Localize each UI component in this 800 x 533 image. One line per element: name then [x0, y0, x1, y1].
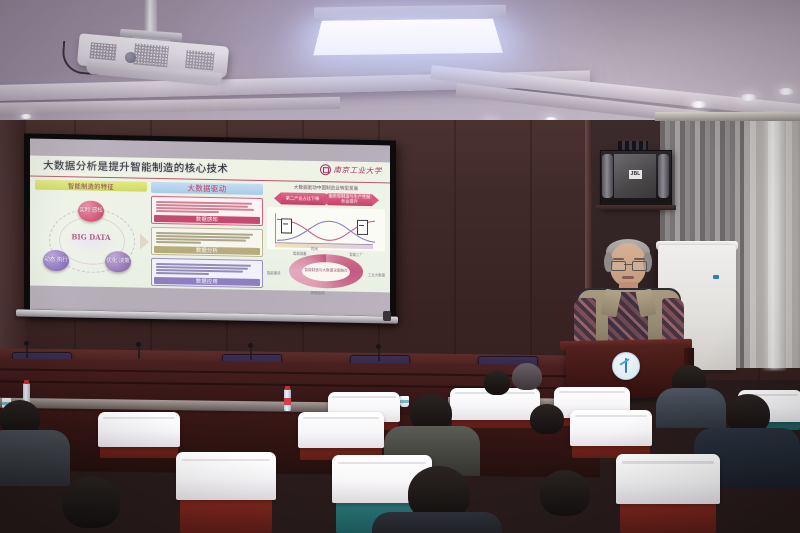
projector-vent — [185, 50, 215, 70]
downlight-icon — [690, 101, 707, 108]
mid-panel-header: 大数据驱动 — [151, 182, 263, 195]
donut-center-label: 智能制造与大数据深度融合 — [304, 269, 347, 274]
speaker-brand-badge: JBL — [629, 170, 642, 179]
cycle-center-label: BIG DATA — [62, 232, 120, 242]
downlight-icon — [740, 94, 757, 101]
presenter-mouth — [622, 276, 634, 279]
donut-ring: 智能制造与大数据深度融合 — [289, 254, 363, 289]
chart-y-axis — [275, 213, 276, 243]
downlight-icon — [778, 88, 794, 95]
downlight-icon — [20, 114, 32, 119]
presenter-eyebrow-left — [613, 258, 624, 260]
slide-logo: 南京工业大学 — [320, 164, 382, 176]
microphone-head-icon — [248, 343, 253, 348]
desk-microphone — [378, 347, 380, 361]
ceiling-light-panel — [313, 19, 503, 56]
slide-content: 大数据分析是提升智能制造的核心技术 南京工业大学 智能制造的特征 — [30, 156, 390, 293]
projector-vent — [133, 43, 169, 67]
cycle-node-label: 动态 执行 — [44, 257, 67, 264]
mid-box-footer: 数据感知 — [154, 215, 260, 224]
donut-label: 智能工厂 — [349, 252, 363, 257]
cycle-diagram: BIG DATA 实时 感知 优化 决策 动态 执行 — [35, 192, 147, 289]
chart-icon-left — [281, 218, 292, 233]
slide-logo-text: 南京工业大学 — [333, 164, 382, 176]
trend-arrow-up: 服务型制造与生产性服务业提升 — [328, 193, 372, 206]
bottle-cap — [24, 380, 29, 384]
chair-cover — [98, 412, 180, 447]
ac-power-indicator-icon — [713, 275, 719, 279]
mid-box-footer: 数据应用 — [154, 277, 260, 286]
glasses-bridge — [624, 264, 632, 265]
bottle-cap — [285, 386, 290, 390]
attendee-head — [530, 404, 564, 434]
slide-body: 智能制造的特征 BIG DATA 实时 感知 优化 决策 — [30, 177, 390, 294]
slide-title: 大数据分析是提升智能制造的核心技术 — [43, 158, 228, 177]
presenter-glasses-icon — [611, 261, 645, 269]
donut-label: 智能服务 — [267, 270, 281, 275]
desk-microphone — [250, 346, 252, 360]
attendee-shoulders — [0, 430, 70, 486]
mid-box-footer-label: 数据应用 — [196, 278, 218, 285]
curtain-rail — [655, 112, 800, 121]
microphone-head-icon — [24, 341, 29, 346]
donut-label: 工业大数据 — [368, 272, 385, 277]
screen-surface: 大数据分析是提升智能制造的核心技术 南京工业大学 智能制造的特征 — [30, 139, 390, 317]
chair-cover — [176, 452, 276, 500]
speaker-side-left — [602, 154, 613, 198]
left-panel-header: 智能制造的特征 — [35, 180, 147, 192]
chair-cover — [570, 410, 652, 446]
desk-microphone — [26, 344, 28, 358]
attendee-shoulders — [656, 388, 726, 428]
bottle-label — [284, 398, 291, 405]
university-seal-icon — [320, 164, 331, 175]
slide-left-panel: 智能制造的特征 BIG DATA 实时 感知 优化 决策 — [35, 180, 147, 286]
donut-diagram: 智能制造与大数据深度融合 智能装备 智能工厂 智能服务 工业大数据 网络协同 — [267, 251, 385, 293]
crossing-curves-chart: 时间 — [267, 207, 385, 251]
lecture-hall-photo: JBL 大数据分析是提升智能制造的核心技术 南京工业大学 — [0, 0, 800, 533]
attendee-head — [62, 476, 120, 528]
slide-right-panel: 大数据驱动中国制造业转型发展 第二产业占比下降 服务型制造与生产性服务业提升 — [267, 184, 385, 290]
speaker-side-right — [658, 154, 669, 198]
chart-icon-right — [357, 220, 368, 235]
attendee-shoulders — [372, 512, 502, 533]
trend-arrow-label: 第二产业占比下降 — [286, 196, 320, 201]
flow-arrow-icon — [140, 234, 149, 250]
donut-center: 智能制造与大数据深度融合 — [302, 261, 350, 281]
attendee-head — [540, 470, 590, 516]
cup-band — [400, 400, 409, 403]
curtain-window-glare — [762, 112, 786, 370]
glasses-lens-left — [611, 261, 626, 271]
cycle-node-label: 优化 决策 — [106, 258, 129, 265]
presenter-eyebrow-right — [634, 258, 645, 260]
right-panel-arrows: 第二产业占比下降 服务型制造与生产性服务业提升 — [267, 192, 385, 206]
projector-vent — [90, 42, 117, 60]
mid-box-analysis: 数据分析 — [151, 227, 263, 257]
desk-microphone — [138, 345, 140, 359]
podium-emblem — [612, 352, 640, 380]
mid-box-footer-label: 数据分析 — [196, 247, 218, 254]
mid-box-perception: 数据感知 — [151, 196, 263, 226]
attendee-head — [484, 370, 510, 395]
right-panel-header: 大数据驱动中国制造业转型发展 — [267, 184, 385, 192]
chair-cover — [298, 412, 384, 448]
slide-mid-panel: 大数据驱动 数据感知 — [151, 182, 263, 288]
attendee-head — [512, 363, 542, 390]
projection-screen: 大数据分析是提升智能制造的核心技术 南京工业大学 智能制造的特征 — [24, 133, 396, 322]
mid-box-application: 数据应用 — [151, 258, 263, 288]
glasses-lens-right — [632, 261, 647, 271]
cycle-node-decision: 优化 决策 — [105, 251, 131, 272]
podium-emblem-glyph-icon — [618, 358, 634, 374]
donut-label: 智能装备 — [293, 251, 307, 256]
mid-panel-header-label: 大数据驱动 — [188, 183, 227, 195]
mid-box-footer: 数据分析 — [154, 246, 260, 255]
chart-axis-label: 时间 — [311, 246, 318, 251]
cycle-node-execution: 动态 执行 — [43, 250, 69, 271]
trend-arrow-label: 服务型制造与生产性服务业提升 — [328, 195, 372, 205]
mid-box-footer-label: 数据感知 — [196, 216, 218, 223]
left-panel-header-label: 智能制造的特征 — [68, 181, 114, 191]
microphone-head-icon — [376, 344, 381, 349]
speaker-brand-label: JBL — [629, 170, 642, 179]
cycle-node-label: 实时 感知 — [79, 208, 102, 215]
screen-pull-knob[interactable] — [383, 311, 391, 321]
chair-cover — [616, 454, 720, 504]
microphone-head-icon — [136, 342, 141, 347]
cycle-node-perception: 实时 感知 — [78, 200, 104, 221]
donut-label: 网络协同 — [311, 290, 325, 295]
wall-pilaster-left — [0, 120, 26, 360]
trend-arrow-down: 第二产业占比下降 — [281, 192, 325, 205]
speaker-shelf — [596, 205, 676, 210]
